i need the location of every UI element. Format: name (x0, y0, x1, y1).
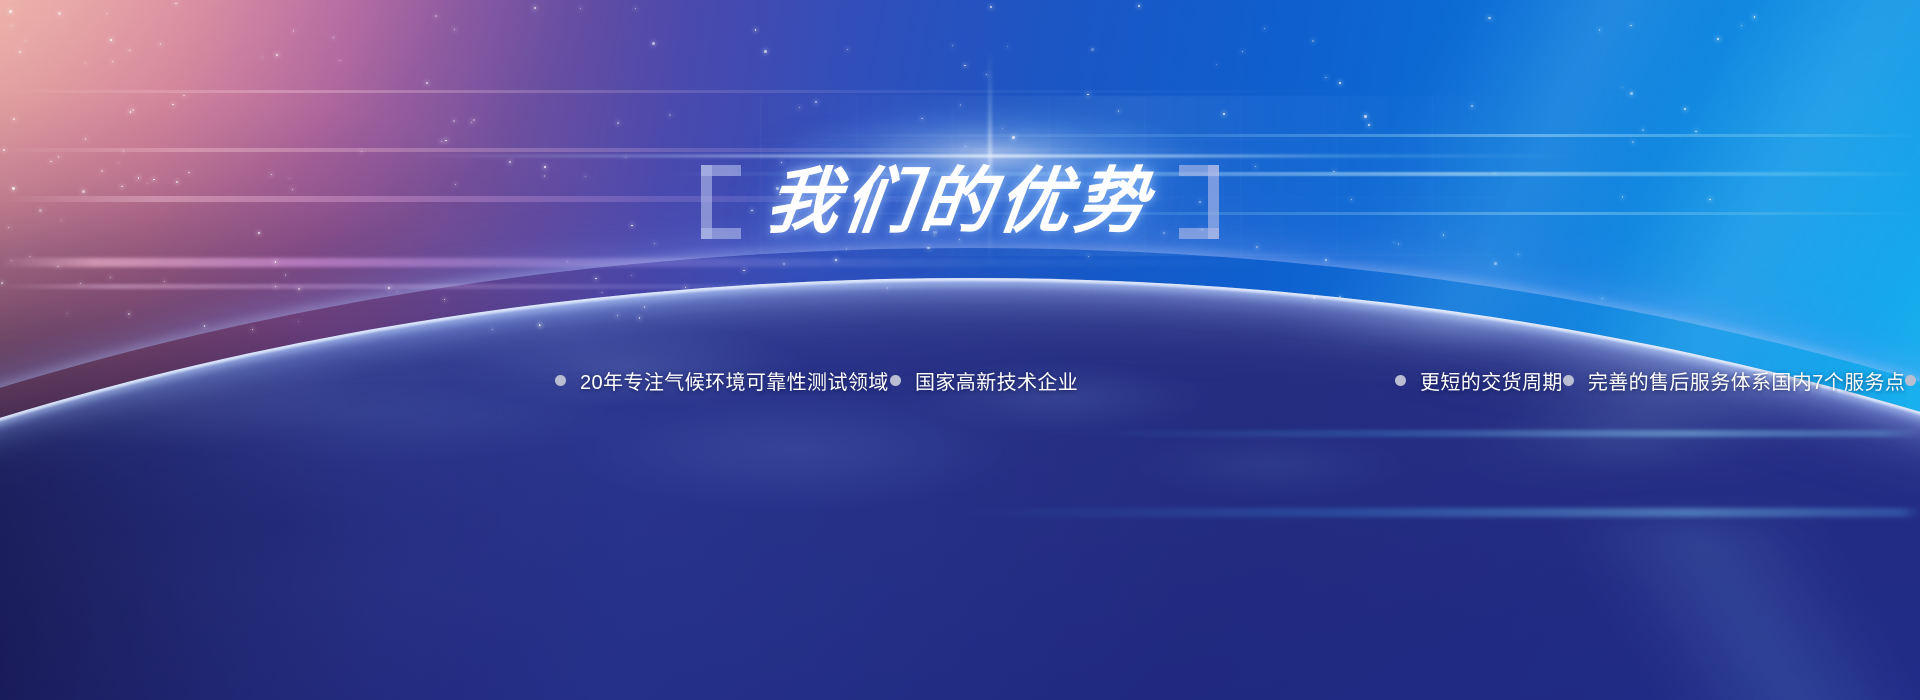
advantage-item-label: 国家高新技术企业 (915, 366, 1078, 395)
bullet-dot-icon (555, 375, 566, 386)
advantage-item-label: 完善的售后服务体系国内7个服务点 (1588, 366, 1906, 395)
bullet-dot-icon (1905, 375, 1916, 386)
advantage-item-label: 更短的交货周期 (1420, 366, 1563, 395)
advantage-item: 国家高新技术企业 (890, 358, 1395, 402)
advantages-hero-banner: 我们的优势 20年专注气候环境可靠性测试领域国家高新技术企业更短的交货周期完善的… (0, 0, 1920, 700)
advantages-list: 20年专注气候环境可靠性测试领域国家高新技术企业更短的交货周期完善的售后服务体系… (555, 358, 1395, 402)
earth-atmosphere-halo (0, 248, 1920, 700)
bullet-dot-icon (1395, 375, 1406, 386)
bullet-dot-icon (890, 375, 901, 386)
advantage-item: 更短的交货周期 (1395, 358, 1563, 402)
advantage-item: 完善的售后服务体系国内7个服务点 (1563, 358, 1906, 402)
advantage-item: 20年专注气候环境可靠性测试领域 (555, 358, 890, 402)
bullet-dot-icon (1563, 375, 1574, 386)
advantage-item-label: 20年专注气候环境可靠性测试领域 (580, 366, 889, 395)
advantage-item: 试验箱节能技术 (1905, 358, 1920, 402)
